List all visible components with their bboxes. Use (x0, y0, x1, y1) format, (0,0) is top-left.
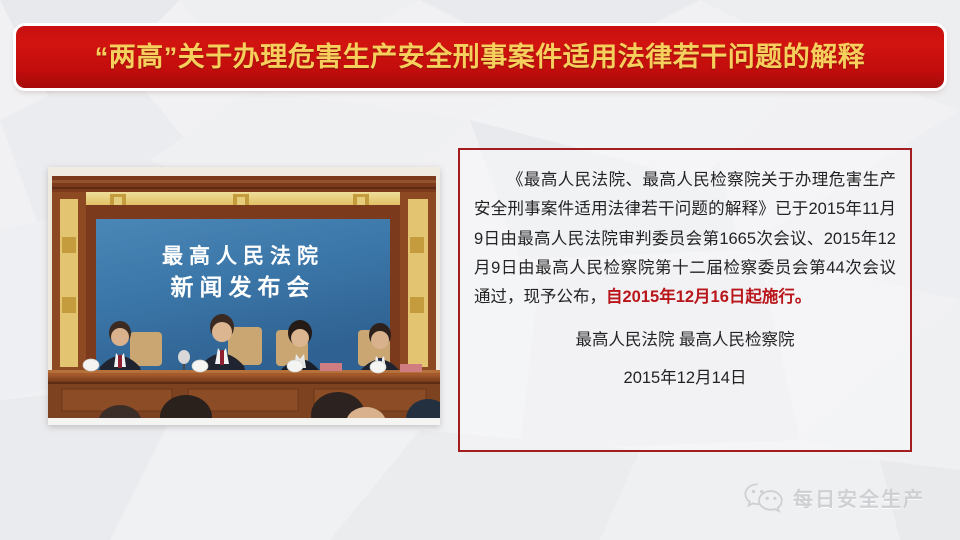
watermark-label: 每日安全生产 (793, 483, 925, 512)
wechat-icon (744, 480, 784, 514)
page-title: “两高”关于办理危害生产安全刑事案件适用法律若干问题的解释 (95, 44, 866, 71)
notice-paragraph: 《最高人民法院、最高人民检察院关于办理危害生产安全刑事案件适用法律若干问题的解释… (474, 166, 896, 313)
slide-canvas: “两高”关于办理危害生产安全刑事案件适用法律若干问题的解释 (0, 0, 960, 540)
watermark: 每日安全生产 (744, 480, 925, 514)
photo-illustration: 最高人民法院 新闻发布会 (48, 167, 440, 425)
notice-date: 2015年12月14日 (474, 365, 896, 391)
notice-card: 《最高人民法院、最高人民检察院关于办理危害生产安全刑事案件适用法律若干问题的解释… (458, 148, 912, 452)
photo-caption-line2: 新闻发布会 (171, 274, 316, 300)
notice-effective-date-highlight: 自2015年12月16日起施行。 (606, 288, 811, 306)
press-conference-photo: 最高人民法院 新闻发布会 (48, 167, 440, 425)
photo-caption-line1: 最高人民法院 (162, 244, 324, 268)
title-banner: “两高”关于办理危害生产安全刑事案件适用法律若干问题的解释 (16, 26, 944, 88)
notice-signature: 最高人民法院 最高人民检察院 (474, 327, 896, 353)
notice-paragraph-main: 《最高人民法院、最高人民检察院关于办理危害生产安全刑事案件适用法律若干问题的解释… (474, 171, 896, 306)
